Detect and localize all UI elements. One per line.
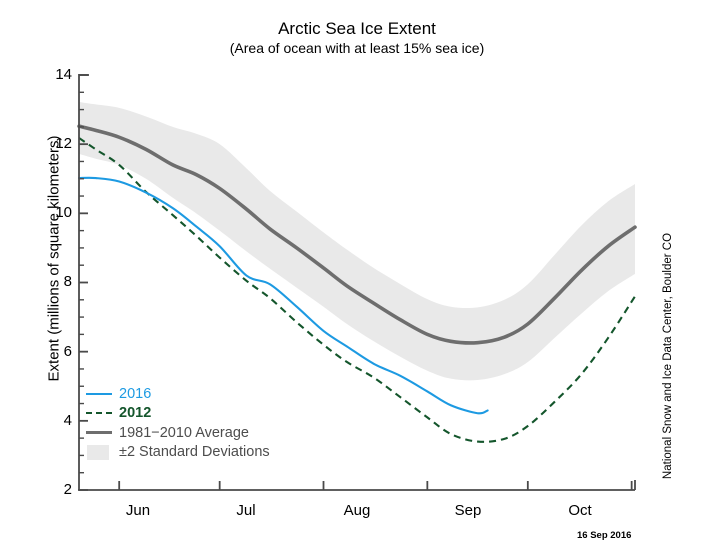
legend-swatch-band-icon xyxy=(86,445,112,459)
legend-swatch-dashed-line-icon xyxy=(86,406,112,420)
legend-item-std-dev: ±2 Standard Deviations xyxy=(86,443,316,463)
legend-label: 2012 xyxy=(119,405,151,421)
legend-label: 1981−2010 Average xyxy=(119,425,249,441)
legend-item-average: 1981−2010 Average xyxy=(86,423,316,443)
legend-item-2012: 2012 xyxy=(86,404,316,424)
legend-label: 2016 xyxy=(119,386,151,402)
std-dev-band xyxy=(79,102,635,380)
chart-legend: 2016 2012 1981−2010 Average ±2 Standard … xyxy=(86,384,316,462)
legend-item-2016: 2016 xyxy=(86,384,316,404)
chart-figure: Arctic Sea Ice Extent (Area of ocean wit… xyxy=(0,0,715,557)
legend-label: ±2 Standard Deviations xyxy=(119,444,270,460)
legend-swatch-thick-line-icon xyxy=(86,426,112,440)
legend-swatch-line-icon xyxy=(86,387,112,401)
plot-canvas xyxy=(0,0,715,557)
